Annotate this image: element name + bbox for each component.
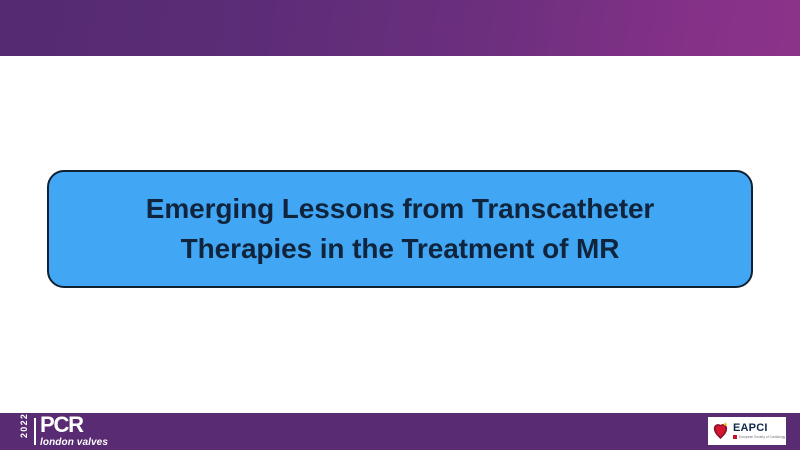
pcr-year-label: 2022 bbox=[19, 426, 29, 438]
pcr-event-name: london valves bbox=[40, 438, 108, 448]
footer-band bbox=[0, 413, 800, 450]
pcr-wordmark: PCR london valves bbox=[40, 415, 108, 448]
esc-mark-icon bbox=[733, 435, 737, 439]
slide-title-box: Emerging Lessons from Transcatheter Ther… bbox=[47, 170, 753, 288]
presentation-slide: Emerging Lessons from Transcatheter Ther… bbox=[0, 0, 800, 450]
pcr-acronym: PCR bbox=[40, 415, 108, 436]
eapci-society-name: European Society of Cardiology bbox=[739, 436, 785, 439]
top-decorative-band bbox=[0, 0, 800, 56]
page-title: Emerging Lessons from Transcatheter Ther… bbox=[128, 189, 672, 269]
eapci-text-block: EAPCI European Society of Cardiology bbox=[733, 423, 785, 440]
eapci-logo: EAPCI European Society of Cardiology bbox=[708, 417, 786, 445]
eapci-society-row: European Society of Cardiology bbox=[733, 435, 785, 439]
pcr-divider bbox=[34, 418, 36, 445]
heart-shield-icon bbox=[711, 422, 730, 441]
eapci-name: EAPCI bbox=[733, 423, 785, 434]
pcr-london-valves-logo: 2022 PCR london valves bbox=[18, 413, 108, 450]
